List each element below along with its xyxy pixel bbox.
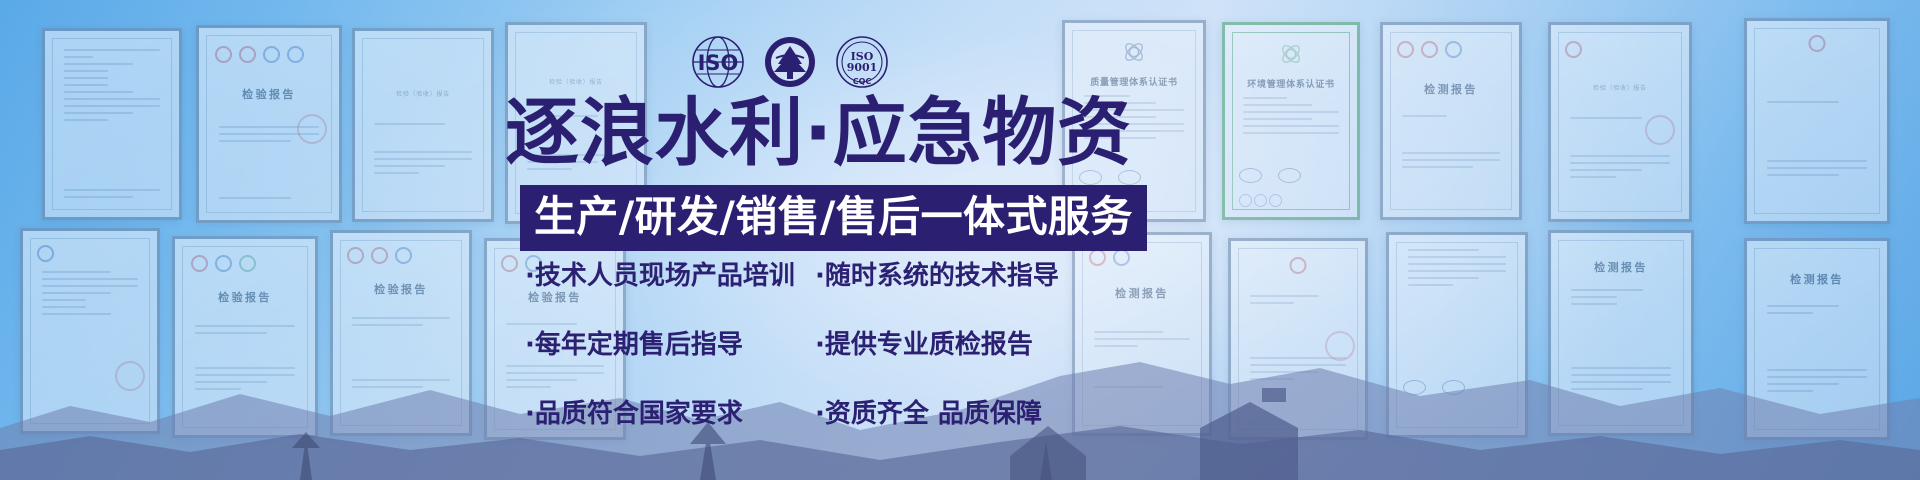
cnas-logo-icon <box>215 255 232 272</box>
feature-list: ·技术人员现场产品培训 ·随时系统的技术指导 ·每年定期售后指导 ·提供专业质检… <box>525 255 1065 430</box>
cma-logo-icon <box>287 46 304 63</box>
svg-text:CQC: CQC <box>853 77 872 86</box>
svg-text:9001: 9001 <box>847 61 878 74</box>
cnas-logo-icon <box>395 247 412 264</box>
cnas-logo-icon <box>37 245 54 262</box>
ooo-mark-icon <box>1239 194 1282 207</box>
feature-item: ·品质符合国家要求 <box>525 393 815 430</box>
red-seal-icon <box>297 114 327 144</box>
cqc-logo-icon <box>1290 257 1307 274</box>
certificate-title: 检测报告 <box>1551 259 1691 275</box>
certificate-card: 检测报告 <box>1380 22 1522 220</box>
cqc-logo-icon <box>1565 41 1582 58</box>
certificate-card: 检验报告 <box>196 25 342 223</box>
certificate-card: 检验（验收）报告 <box>352 28 494 222</box>
banner-headline: 逐浪水利·应急物资 <box>505 96 1132 170</box>
cqc-logo-icon <box>215 46 232 63</box>
certificate-card: 环境管理体系认证书 <box>1222 22 1360 220</box>
cnas-logo-icon <box>263 46 280 63</box>
iso-14000-badge <box>762 34 818 90</box>
cqc-logo-icon <box>191 255 208 272</box>
certificate-subtitle: 检验（验收）报告 <box>355 89 491 98</box>
feature-item: ·资质齐全 品质保障 <box>815 393 1065 430</box>
cqc-logo-icon <box>347 247 364 264</box>
certificate-inner-border <box>1754 28 1880 214</box>
feature-item: ·每年定期售后指导 <box>525 324 815 361</box>
cqc-logo-icon <box>1089 249 1106 266</box>
iso-9001-cqc-badge: ISO 9001 CQC <box>834 34 890 90</box>
banner-subtitle-bar: 生产/研发/销售/售后一体式服务 <box>520 185 1147 251</box>
promotional-banner: 检验报告 检验（验收）报告 检验（验收）报告 质量管理体系认证书 <box>0 0 1920 480</box>
svg-text:ISO: ISO <box>698 51 739 75</box>
certificate-title: 检验报告 <box>175 289 315 305</box>
certificate-subtitle: 检验（验收）报告 <box>1551 83 1689 92</box>
certificate-title: 检测报告 <box>1383 81 1519 97</box>
certificate-title: 检测报告 <box>1075 285 1209 301</box>
environment-emblem-icon <box>1278 41 1304 67</box>
certificate-title: 环境管理体系认证书 <box>1225 77 1357 90</box>
certification-badges: ISO ISO 9001 CQC <box>690 34 890 90</box>
quality-emblem-icon <box>1121 39 1147 65</box>
ccc-logo-icon <box>239 46 256 63</box>
certificate-card <box>42 28 182 220</box>
cnas-logo-icon <box>1113 249 1130 266</box>
feature-item: ·提供专业质检报告 <box>815 324 1065 361</box>
certificate-subtitle: 检验（验收）报告 <box>508 77 644 86</box>
red-seal-icon <box>1645 115 1675 145</box>
iaf-mark-icon <box>1278 168 1301 183</box>
ccc-logo-icon <box>371 247 388 264</box>
cqc-logo-icon <box>1809 35 1826 52</box>
certificate-title: 检验报告 <box>199 86 339 102</box>
certificate-card <box>1744 18 1890 224</box>
cma-logo-icon <box>239 255 256 272</box>
feature-item: ·随时系统的技术指导 <box>815 255 1065 292</box>
cnas-logo-icon <box>1445 41 1462 58</box>
certificate-card: 检验（验收）报告 <box>1548 22 1692 222</box>
iso-globe-badge: ISO <box>690 34 746 90</box>
feature-item: ·技术人员现场产品培训 <box>525 255 815 292</box>
ccc-logo-icon <box>1421 41 1438 58</box>
cqc-logo-icon <box>501 255 518 272</box>
cqc-logo-icon <box>1397 41 1414 58</box>
certificate-title: 检验报告 <box>333 281 469 297</box>
cnas-mark-icon <box>1239 168 1262 183</box>
certificate-title: 质量管理体系认证书 <box>1065 75 1203 88</box>
certificate-title: 检测报告 <box>1747 271 1887 287</box>
